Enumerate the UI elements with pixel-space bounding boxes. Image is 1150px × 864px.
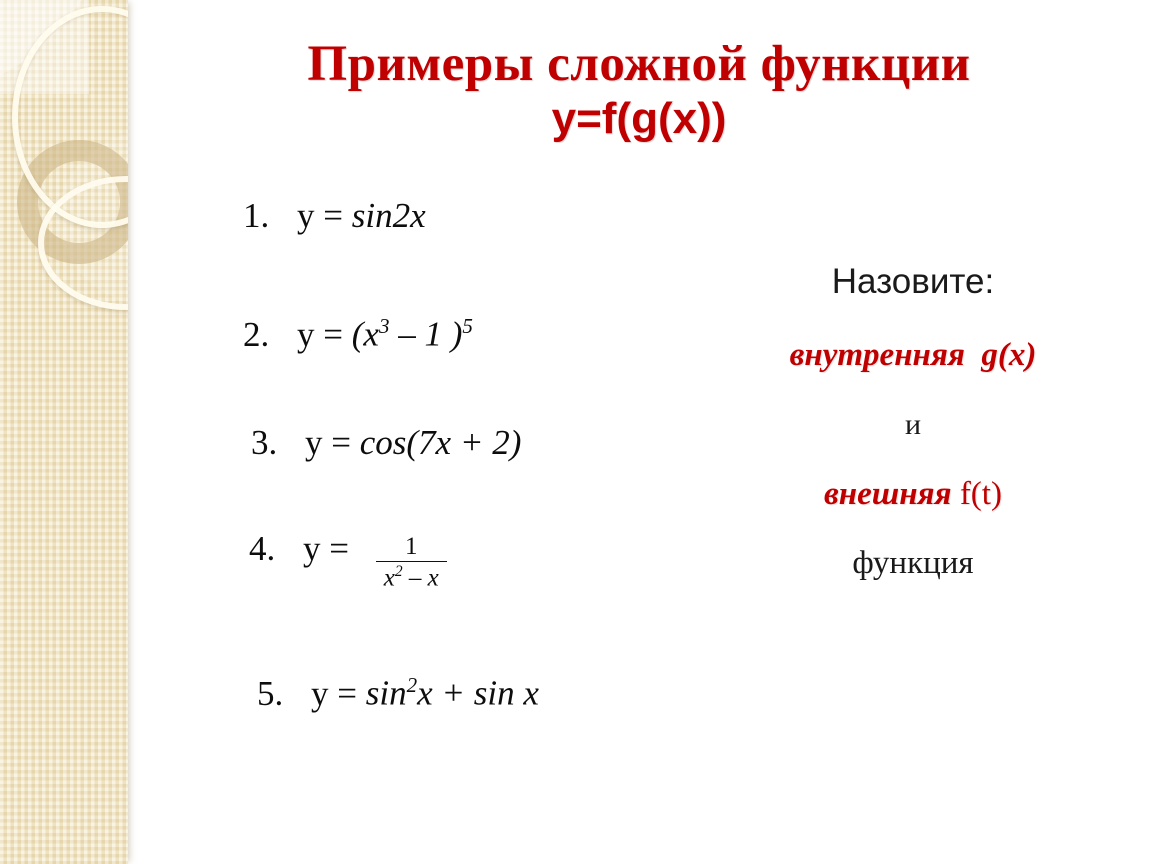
outer-function-notation: f(t) (960, 476, 1002, 512)
equation-exponent: 2 (407, 673, 418, 697)
conjunction-label: и (728, 410, 1098, 440)
list-item: 1. y = sin2x (243, 198, 703, 233)
equation-lhs: y = (305, 425, 360, 460)
equation-lhs: y = (303, 531, 358, 566)
equation-outer-exponent: 5 (462, 314, 473, 338)
equation-rhs-tail: x + sin x (417, 674, 539, 713)
fraction: 1 x2 – x (376, 534, 447, 592)
page-title: Примеры сложной функции y=f(g(x)) (128, 36, 1150, 146)
fraction-denominator: x2 – x (376, 562, 447, 592)
list-item-number: 1. (243, 198, 297, 233)
prompt-heading: Назовите: (728, 264, 1098, 299)
list-item: 3. y = cos(7x + 2) (243, 425, 703, 460)
list-item-number: 4. (249, 531, 303, 566)
equation-rhs: cos(7x + 2) (360, 425, 522, 460)
list-item-number: 2. (243, 317, 297, 352)
equation-list: 1. y = sin2x 2. y = (x3 – 1 )5 3. y = co… (243, 198, 703, 711)
outer-function-label: внешняя f(t) (728, 478, 1098, 511)
outer-function-name: внешняя (824, 476, 960, 512)
equation-exponent: 3 (379, 314, 390, 338)
equation-rhs: (x3 – 1 )5 (352, 316, 473, 352)
list-item-number: 3. (251, 425, 305, 460)
equation-rhs-mid: – 1 ) (389, 315, 462, 354)
denominator-base: x (384, 564, 395, 591)
denominator-exponent: 2 (395, 563, 403, 580)
equation-rhs-base: (x (352, 315, 379, 354)
denominator-tail: – x (403, 564, 439, 591)
equation-lhs: y = (297, 198, 352, 233)
title-line-1: Примеры сложной функции (128, 36, 1150, 93)
slide: Примеры сложной функции y=f(g(x)) 1. y =… (0, 0, 1150, 864)
inner-function-label: внутренняя g(x) (728, 339, 1098, 372)
list-item: 4. y = 1 x2 – x (243, 531, 703, 598)
equation-rhs-base: sin (366, 674, 407, 713)
equation-rhs: sin2x (352, 198, 426, 233)
decorative-sidebar (0, 0, 128, 864)
fraction-numerator: 1 (376, 534, 447, 561)
prompt-panel: Назовите: внутренняя g(x) и внешняя f(t)… (728, 264, 1098, 580)
prompt-trailer: функция (728, 547, 1098, 580)
title-line-2: y=f(g(x)) (128, 93, 1150, 146)
equation-rhs: sin2x + sin x (366, 675, 539, 711)
list-item: 5. y = sin2x + sin x (243, 675, 703, 711)
list-item-number: 5. (257, 676, 311, 711)
equation-lhs: y = (311, 676, 366, 711)
equation-lhs: y = (297, 317, 352, 352)
list-item: 2. y = (x3 – 1 )5 (243, 316, 703, 352)
